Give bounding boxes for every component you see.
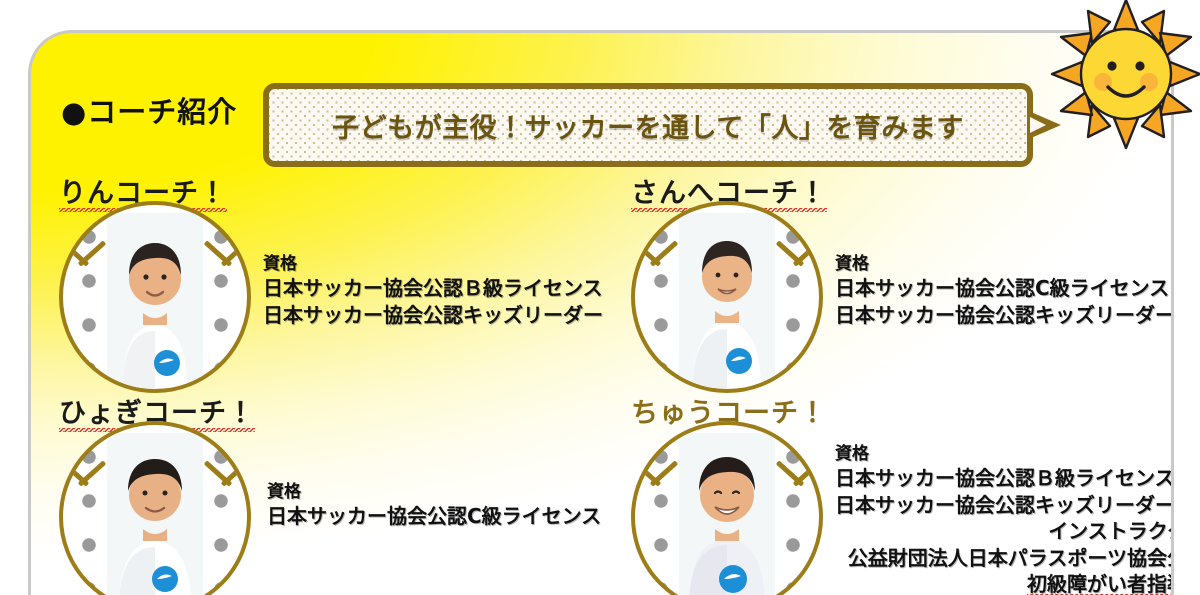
decorative-tick-icon xyxy=(793,460,822,486)
decorative-tick-icon xyxy=(78,460,107,486)
decorative-tick-icon xyxy=(78,240,107,266)
qualification-line: 日本サッカー協会公認キッズリーダー xyxy=(263,302,603,328)
coach-card-4: ちゅうコーチ！ xyxy=(631,391,1174,595)
qualification-heading: 資格 xyxy=(835,443,1174,465)
coach-photo-3 xyxy=(59,421,251,595)
coach-intro-card: ●コーチ紹介 子どもが主役！サッカーを通して「人」を育みます りんコーチ！ xyxy=(28,30,1174,595)
coach-photo-4 xyxy=(631,421,823,595)
qualification-line: 日本サッカー協会公認Ｂ級ライセンス xyxy=(263,275,603,301)
coach-qualifications-4: 資格 日本サッカー協会公認Ｂ級ライセンス 日本サッカー協会公認キッズリーダー イ… xyxy=(835,443,1174,595)
person-photo-illustration xyxy=(107,213,203,388)
qualification-line: 日本サッカー協会公認キッズリーダー xyxy=(835,302,1174,328)
coach-qualifications-1: 資格 日本サッカー協会公認Ｂ級ライセンス 日本サッカー協会公認キッズリーダー xyxy=(263,253,603,328)
coach-photo-2 xyxy=(631,201,823,393)
decorative-tick-icon xyxy=(650,460,679,486)
qualification-line: 日本サッカー協会公認Ｂ級ライセンス xyxy=(835,465,1174,491)
coach-qualifications-3: 資格 日本サッカー協会公認C級ライセンス xyxy=(267,481,601,530)
qualification-line: 日本サッカー協会公認キッズリーダー xyxy=(835,492,1174,518)
qualification-line: 日本サッカー協会公認C級ライセンス xyxy=(267,503,601,529)
coach-card-2: さんへコーチ！ xyxy=(631,171,1174,381)
person-photo-illustration xyxy=(107,433,203,595)
page-title: ●コーチ紹介 xyxy=(61,89,237,131)
speech-bubble-tail-inner xyxy=(1030,117,1046,133)
qualification-heading: 資格 xyxy=(835,253,1174,275)
screenshot-root: ●コーチ紹介 子どもが主役！サッカーを通して「人」を育みます りんコーチ！ xyxy=(0,0,1200,595)
person-photo-illustration xyxy=(679,433,775,595)
coach-card-3: ひょぎコーチ！ xyxy=(59,391,639,595)
qualification-line: 公益財団法人日本パラスポーツ協会公認 xyxy=(835,545,1174,571)
coach-photo-1 xyxy=(59,201,251,393)
speech-bubble-body: 子どもが主役！サッカーを通して「人」を育みます xyxy=(263,83,1033,167)
qualification-line: 初級障がい者指導員 xyxy=(835,571,1174,595)
decorative-tick-icon xyxy=(793,240,822,266)
qualification-heading: 資格 xyxy=(267,481,601,503)
tagline-speech-bubble: 子どもが主役！サッカーを通して「人」を育みます xyxy=(263,83,1033,167)
decorative-tick-icon xyxy=(221,240,250,266)
decorative-tick-icon xyxy=(221,460,250,486)
qualification-line: インストラクター xyxy=(835,518,1174,544)
person-photo-illustration xyxy=(679,213,775,388)
tagline-text: 子どもが主役！サッカーを通して「人」を育みます xyxy=(332,106,964,145)
qualification-line: 日本サッカー協会公認C級ライセンス xyxy=(835,275,1174,301)
coach-card-1: りんコーチ！ xyxy=(59,171,639,381)
qualification-heading: 資格 xyxy=(263,253,603,275)
decorative-tick-icon xyxy=(650,240,679,266)
sun-icon xyxy=(1050,0,1200,150)
coach-qualifications-2: 資格 日本サッカー協会公認C級ライセンス 日本サッカー協会公認キッズリーダー xyxy=(835,253,1174,328)
